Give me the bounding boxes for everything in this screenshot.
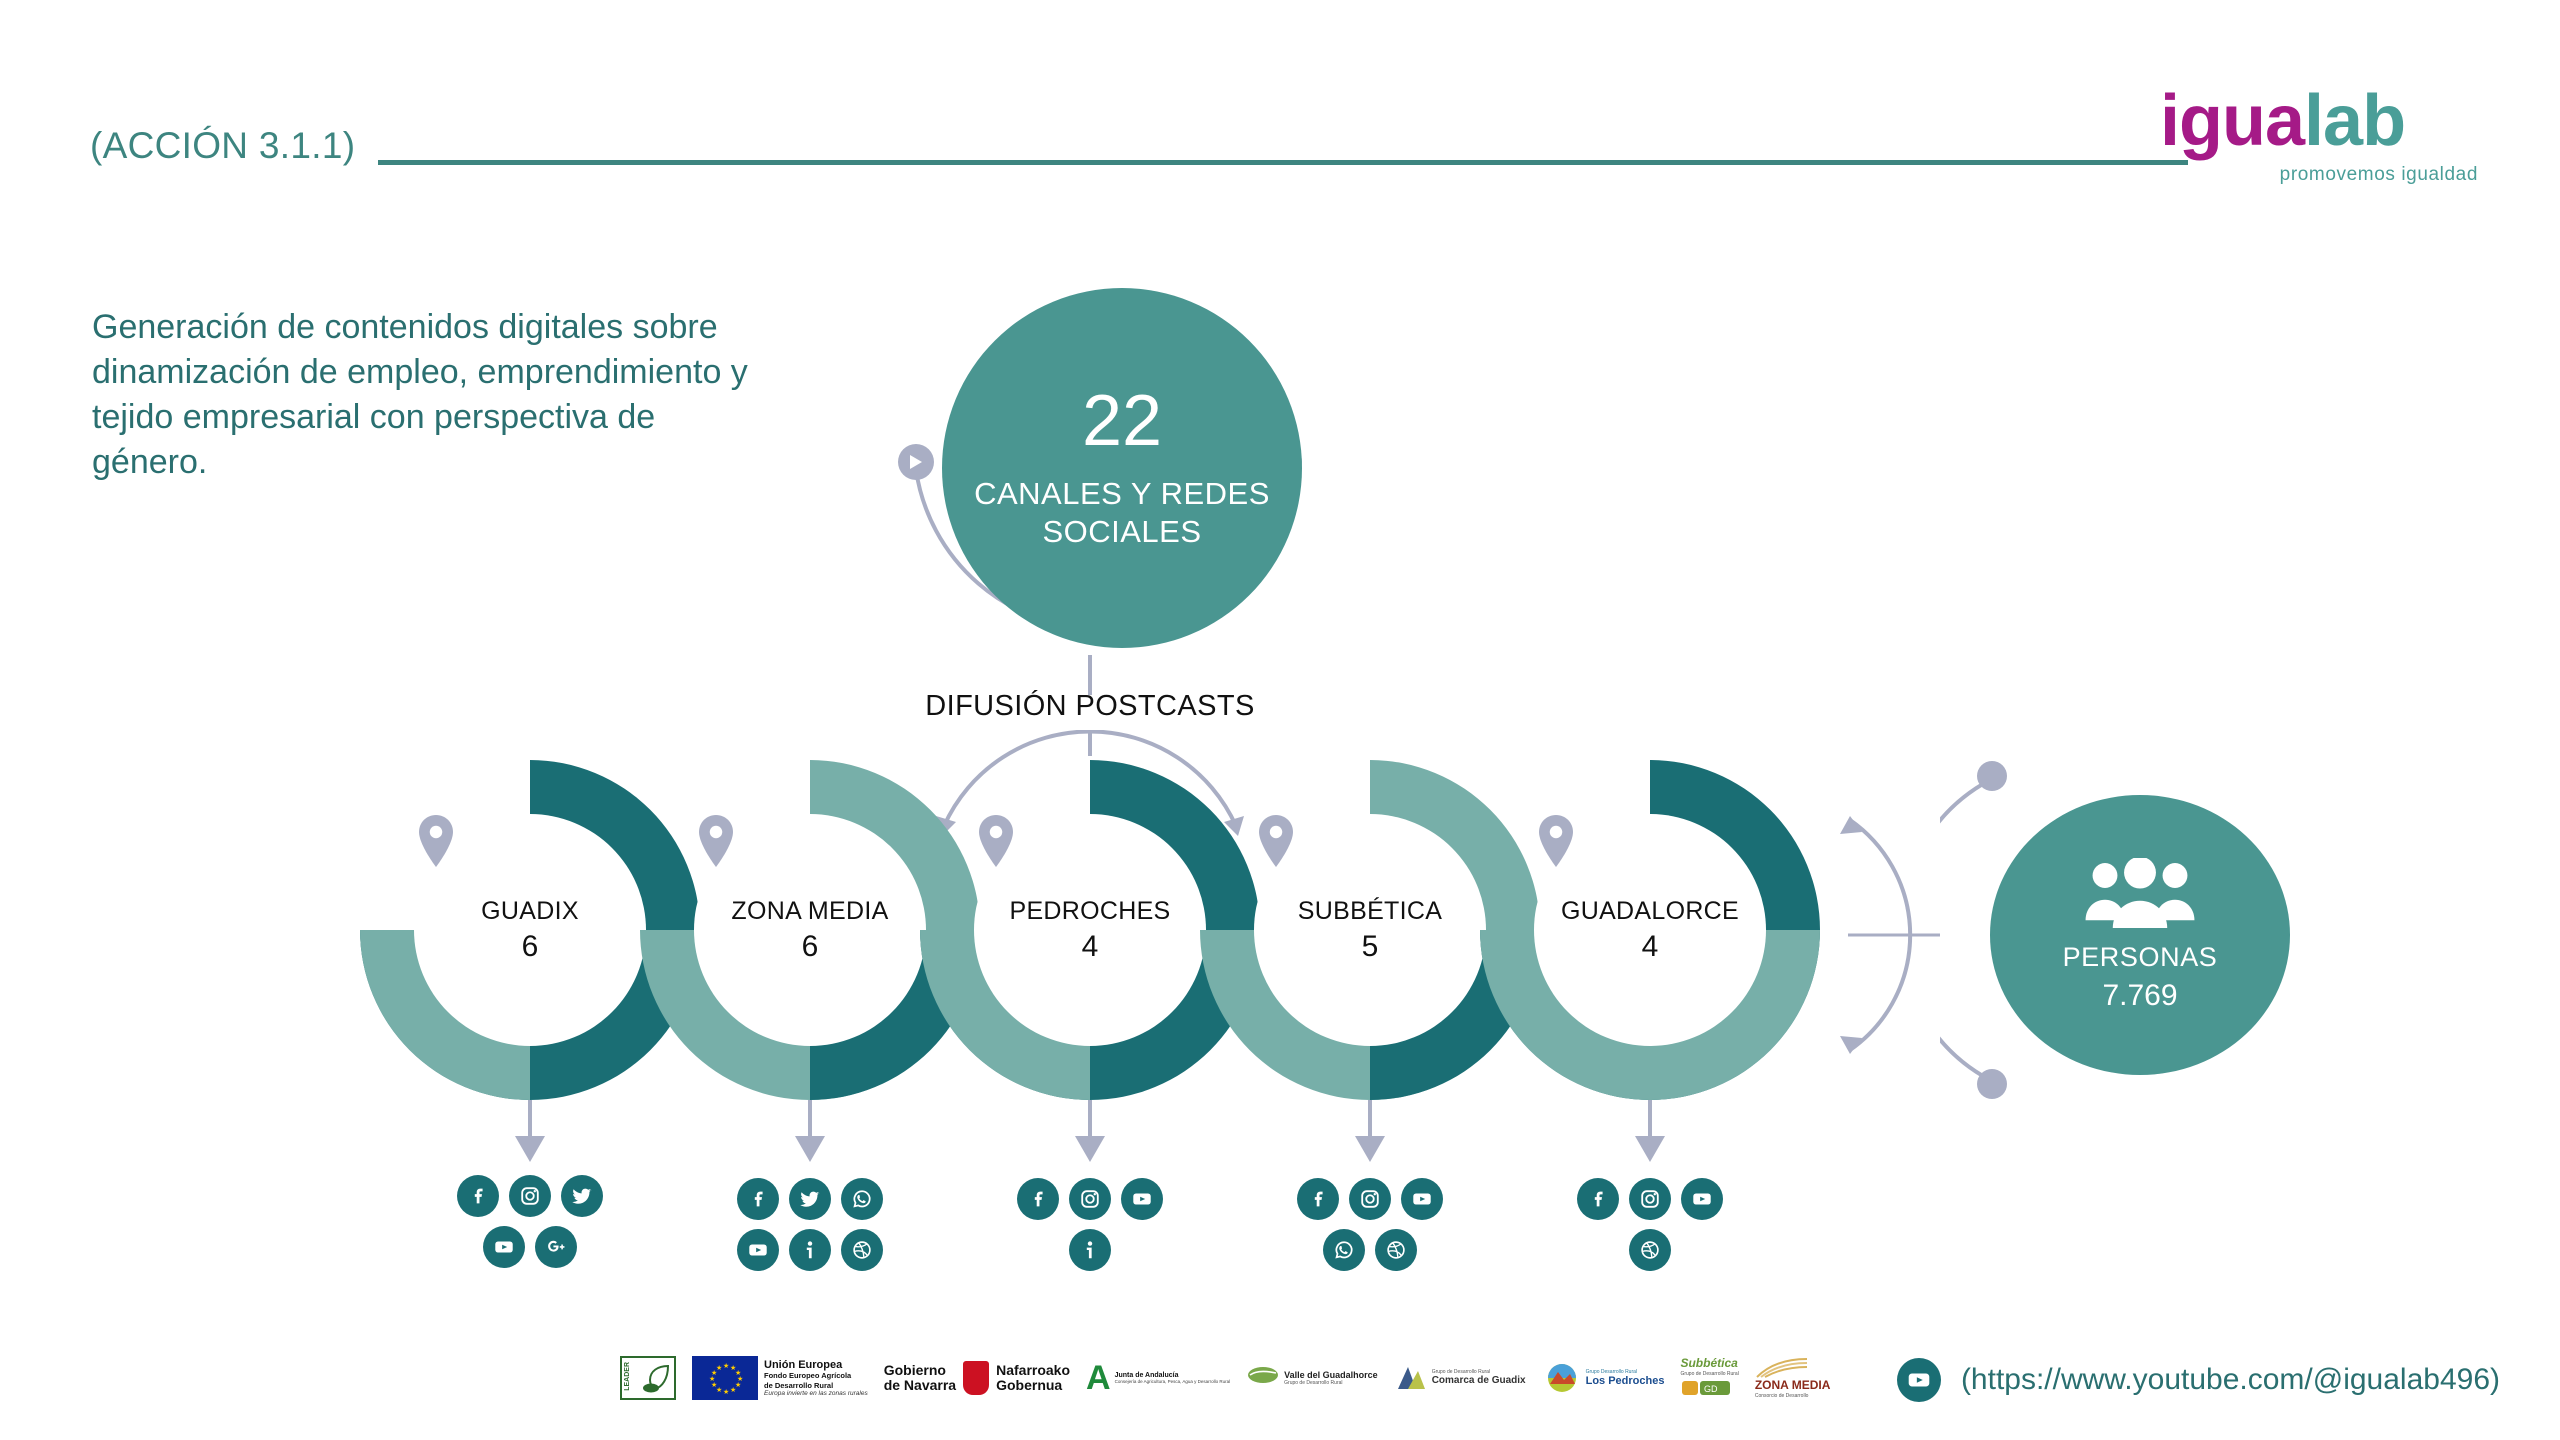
- social-group-guadalorce: [1520, 1178, 1780, 1280]
- facebook-icon[interactable]: [1017, 1178, 1059, 1220]
- action-description: Generación de contenidos digitales sobre…: [92, 305, 752, 485]
- valle-title: Valle del Guadalhorce: [1284, 1370, 1378, 1380]
- location-pin-icon: [1535, 815, 1577, 867]
- google-plus-icon[interactable]: [535, 1226, 577, 1268]
- social-row: [680, 1229, 940, 1271]
- dribbble-icon[interactable]: [1629, 1229, 1671, 1271]
- ring-inner-guadalorce: GUADALORCE 4: [1535, 815, 1765, 1045]
- header-divider-rule: [378, 160, 2188, 165]
- zona-media-logo: ZONA MEDIA Consorcio de Desarrollo: [1755, 1357, 1831, 1399]
- hub-label-line2: SOCIALES: [974, 513, 1270, 551]
- navarra-line1: Gobierno: [884, 1363, 956, 1378]
- zona-media-title: ZONA MEDIA: [1755, 1379, 1831, 1393]
- region-count: 4: [1642, 930, 1659, 964]
- social-row: [960, 1178, 1220, 1220]
- social-row: [1520, 1178, 1780, 1220]
- region-count: 4: [1082, 930, 1099, 964]
- zona-media-wheat-icon: [1755, 1357, 1811, 1379]
- social-group-subbetica: [1240, 1178, 1500, 1280]
- social-row: [400, 1226, 660, 1268]
- svg-text:GD: GD: [1704, 1384, 1718, 1394]
- location-pin-icon: [695, 815, 737, 867]
- social-row: [680, 1178, 940, 1220]
- logo-letter-a: a: [2265, 81, 2304, 161]
- leader-logo: LEADER: [620, 1356, 676, 1400]
- action-code-label: (ACCIÓN 3.1.1): [90, 125, 355, 167]
- region-count: 5: [1362, 930, 1379, 964]
- logo-tagline: promovemos igualdad: [2280, 164, 2478, 186]
- youtube-icon[interactable]: [1897, 1358, 1941, 1402]
- logo-letters-lab: lab: [2304, 81, 2405, 161]
- eu-text-block: Unión Europea Fondo Europeo Agrícola de …: [764, 1359, 868, 1397]
- union-europea-logo: ★ ★ ★ ★ ★ ★ ★ ★ ★ ★ ★ ★ Unión Europea Fo…: [692, 1356, 868, 1400]
- region-count: 6: [802, 930, 819, 964]
- zona-media-sub: Consorcio de Desarrollo: [1755, 1393, 1809, 1399]
- social-group-pedroches: [960, 1178, 1220, 1280]
- pedroches-mark: [1542, 1362, 1582, 1394]
- region-name: ZONA MEDIA: [731, 897, 888, 926]
- subbetica-logo: Subbética Grupo de Desarrollo Rural GD: [1680, 1357, 1738, 1399]
- personas-label: PERSONAS: [2063, 942, 2218, 973]
- pedroches-title: Los Pedroches: [1586, 1375, 1665, 1388]
- dribbble-icon[interactable]: [841, 1229, 883, 1271]
- personas-node: PERSONAS 7.769: [1940, 740, 2360, 1120]
- logo-letter-i: i: [2160, 81, 2179, 161]
- social-row: [1240, 1178, 1500, 1220]
- eu-flag-icon: ★ ★ ★ ★ ★ ★ ★ ★ ★ ★ ★ ★: [692, 1356, 758, 1400]
- youtube-icon[interactable]: [1401, 1178, 1443, 1220]
- navarra-shield-icon: [963, 1361, 989, 1395]
- twitter-icon[interactable]: [789, 1178, 831, 1220]
- comarca-guadix-mark: [1394, 1363, 1428, 1393]
- andalucia-sub: Consejería de Agricultura, Pesca, Agua y…: [1115, 1379, 1231, 1384]
- region-name: GUADIX: [481, 897, 579, 926]
- whatsapp-icon[interactable]: [1323, 1229, 1365, 1271]
- andalucia-a-icon: A: [1086, 1363, 1111, 1394]
- info-icon[interactable]: [789, 1229, 831, 1271]
- region-count: 6: [522, 930, 539, 964]
- eu-sub3: Europa invierte en las zonas rurales: [764, 1390, 868, 1397]
- facebook-icon[interactable]: [1297, 1178, 1339, 1220]
- social-row: [1240, 1229, 1500, 1271]
- region-name: PEDROCHES: [1009, 897, 1170, 926]
- youtube-icon[interactable]: [1121, 1178, 1163, 1220]
- eu-sub2: de Desarrollo Rural: [764, 1381, 868, 1390]
- youtube-icon[interactable]: [1681, 1178, 1723, 1220]
- hub-number: 22: [1082, 385, 1162, 457]
- flow-label: DIFUSIÓN POSTCASTS: [880, 690, 1300, 723]
- region-name: SUBBÉTICA: [1298, 897, 1442, 926]
- personas-circle: PERSONAS 7.769: [1990, 795, 2290, 1075]
- instagram-icon[interactable]: [1629, 1178, 1671, 1220]
- twitter-icon[interactable]: [561, 1175, 603, 1217]
- instagram-icon[interactable]: [509, 1175, 551, 1217]
- leader-logo-text: LEADER: [624, 1362, 631, 1391]
- youtube-icon[interactable]: [737, 1229, 779, 1271]
- logo-letters-gu: gu: [2179, 81, 2265, 161]
- personas-value: 7.769: [2102, 979, 2177, 1013]
- valle-sub: Grupo de Desarrollo Rural: [1284, 1380, 1378, 1386]
- region-name: GUADALORCE: [1561, 897, 1739, 926]
- andalucia-title: Junta de Andalucía: [1115, 1372, 1231, 1379]
- social-group-zona-media: [680, 1178, 940, 1280]
- instagram-icon[interactable]: [1069, 1178, 1111, 1220]
- people-group-icon: [2081, 858, 2199, 928]
- social-row: [1520, 1229, 1780, 1271]
- ring-inner-guadix: GUADIX 6: [415, 815, 645, 1045]
- ring-inner-zona-media: ZONA MEDIA 6: [695, 815, 925, 1045]
- hub-node: 22 CANALES Y REDES SOCIALES: [880, 282, 1300, 682]
- footer-logo-strip: LEADER ★ ★ ★ ★ ★ ★ ★ ★ ★ ★ ★ ★ U: [620, 1356, 1830, 1400]
- social-group-guadix: [400, 1175, 660, 1277]
- page-header: (ACCIÓN 3.1.1) igualab promovemos iguald…: [0, 0, 2560, 200]
- comarca-guadix-logo: Grupo de Desarrollo Rural Comarca de Gua…: [1394, 1363, 1526, 1393]
- igualab-logo: igualab promovemos igualdad: [2160, 85, 2480, 180]
- dribbble-icon[interactable]: [1375, 1229, 1417, 1271]
- region-down-arrows: [0, 1100, 2560, 1170]
- gobierno-navarra-logo: Gobierno de Navarra Nafarroako Gobernua: [884, 1361, 1070, 1395]
- logo-wordmark: igualab: [2160, 85, 2480, 157]
- eu-sub1: Fondo Europeo Agrícola: [764, 1371, 868, 1380]
- valle-guadalhorce-mark: [1246, 1363, 1280, 1393]
- location-pin-icon: [415, 815, 457, 867]
- ring-inner-pedroches: PEDROCHES 4: [975, 815, 1205, 1045]
- navarra-es-text: Gobierno de Navarra: [884, 1363, 956, 1394]
- facebook-icon[interactable]: [737, 1178, 779, 1220]
- navarra-line4: Gobernua: [996, 1378, 1070, 1393]
- eu-title: Unión Europea: [764, 1359, 868, 1371]
- subbetica-mark: GD: [1680, 1377, 1732, 1399]
- info-icon[interactable]: [1069, 1229, 1111, 1271]
- facebook-icon[interactable]: [457, 1175, 499, 1217]
- junta-andalucia-logo: A Junta de Andalucía Consejería de Agric…: [1086, 1363, 1230, 1394]
- social-row: [960, 1229, 1220, 1271]
- guadix-title: Comarca de Guadix: [1432, 1375, 1526, 1387]
- ring-inner-subbetica: SUBBÉTICA 5: [1255, 815, 1485, 1045]
- hub-label: CANALES Y REDES SOCIALES: [974, 475, 1270, 551]
- navarra-line3: Nafarroako: [996, 1363, 1070, 1378]
- youtube-url-text[interactable]: (https://www.youtube.com/@igualab496): [1961, 1363, 2500, 1397]
- youtube-icon[interactable]: [483, 1226, 525, 1268]
- instagram-icon[interactable]: [1349, 1178, 1391, 1220]
- social-row: [400, 1175, 660, 1217]
- valle-guadalhorce-logo: Valle del Guadalhorce Grupo de Desarroll…: [1246, 1363, 1378, 1393]
- whatsapp-icon[interactable]: [841, 1178, 883, 1220]
- youtube-link-block[interactable]: (https://www.youtube.com/@igualab496): [1897, 1358, 2500, 1402]
- location-pin-icon: [1255, 815, 1297, 867]
- navarra-line2: de Navarra: [884, 1378, 956, 1393]
- hub-down-connector: [1080, 655, 1100, 695]
- region-ring-guadalorce[interactable]: GUADALORCE 4: [1480, 760, 1820, 1100]
- navarra-eu-text: Nafarroako Gobernua: [996, 1363, 1070, 1394]
- hub-circle: 22 CANALES Y REDES SOCIALES: [942, 288, 1302, 648]
- subbetica-title: Subbética: [1680, 1357, 1737, 1371]
- facebook-icon[interactable]: [1577, 1178, 1619, 1220]
- leader-leaf-icon: [638, 1360, 674, 1400]
- hub-label-line1: CANALES Y REDES: [974, 475, 1270, 513]
- location-pin-icon: [975, 815, 1017, 867]
- los-pedroches-logo: Grupo Desarrollo Rural Los Pedroches: [1542, 1362, 1665, 1394]
- page-footer: LEADER ★ ★ ★ ★ ★ ★ ★ ★ ★ ★ ★ ★ U: [0, 1350, 2560, 1440]
